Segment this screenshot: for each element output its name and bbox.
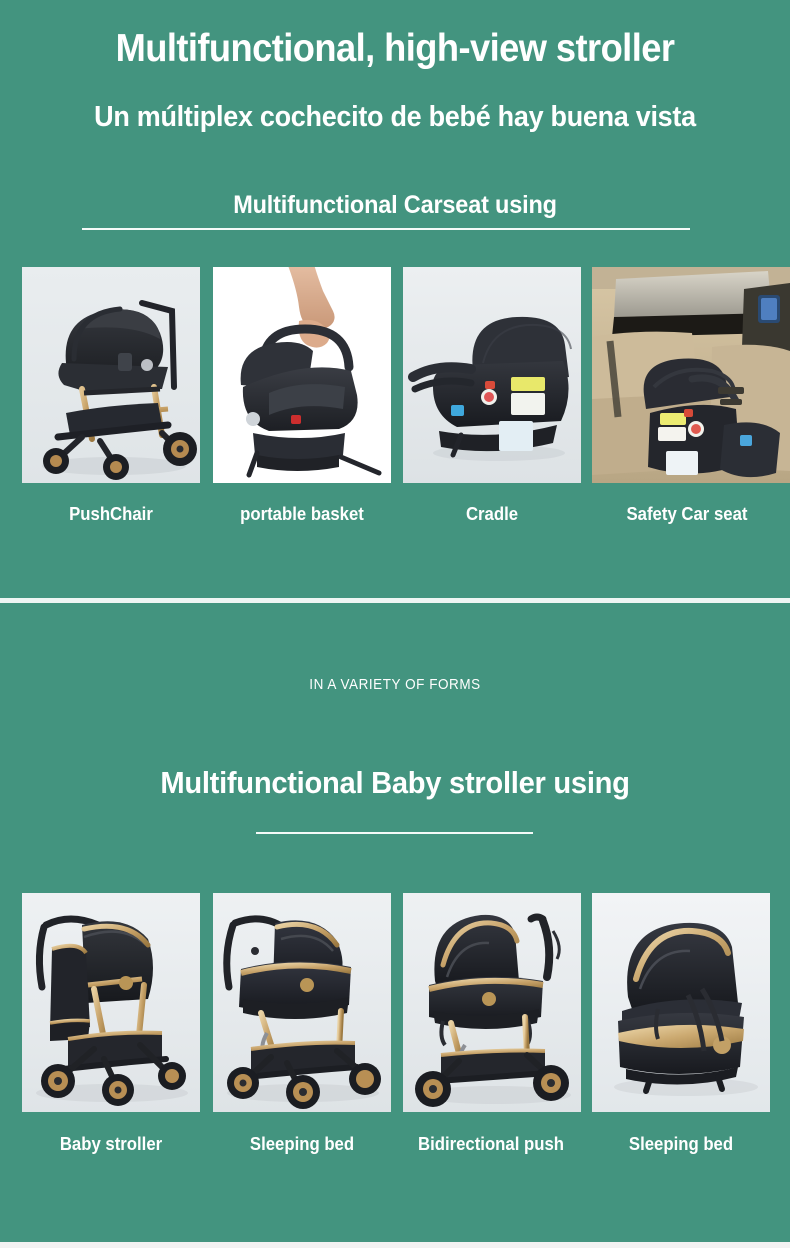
caption-baby-stroller: Baby stroller <box>28 1132 194 1156</box>
caption-pushchair: PushChair <box>28 502 194 526</box>
stroller-bassinet-reverse-illustration <box>403 893 581 1112</box>
cradle-illustration <box>403 267 581 483</box>
portable-basket-illustration <box>213 267 391 483</box>
page-subtitle: Un múltiplex cochecito de bebé hay buena… <box>28 99 763 135</box>
photo-panel-detached-bassinet <box>592 893 770 1112</box>
carseat-heading-underline <box>82 228 690 230</box>
caption-portable-basket: portable basket <box>219 502 385 526</box>
stroller-bassinet-side-illustration <box>213 893 391 1112</box>
variety-eyebrow: IN A VARIETY OF FORMS <box>40 676 751 693</box>
product-infographic-page: Multifunctional, high-view stroller Un m… <box>0 0 790 1248</box>
carseat-section-heading: Multifunctional Carseat using <box>24 189 767 221</box>
page-title: Multifunctional, high-view stroller <box>28 26 763 72</box>
photo-panel-portable-basket <box>213 267 391 483</box>
section-divider <box>0 598 790 603</box>
caption-bidirectional-push: Bidirectional push <box>405 1132 578 1156</box>
detached-bassinet-illustration <box>592 893 770 1112</box>
car-seat-in-car-illustration <box>592 267 790 483</box>
stroller-section-heading: Multifunctional Baby stroller using <box>24 763 767 803</box>
photo-panel-safety-car-seat <box>592 267 790 483</box>
photo-panel-bidirectional-push <box>403 893 581 1112</box>
photo-panel-cradle <box>403 267 581 483</box>
stroller-heading-underline <box>256 832 533 834</box>
caption-sleeping-bed-side: Sleeping bed <box>219 1132 385 1156</box>
photo-panel-baby-stroller <box>22 893 200 1112</box>
pushchair-illustration <box>22 267 200 483</box>
photo-panel-pushchair <box>22 267 200 483</box>
photo-panel-sleeping-bed-side <box>213 893 391 1112</box>
caption-safety-car-seat: Safety Car seat <box>599 502 776 526</box>
caption-cradle: Cradle <box>409 502 575 526</box>
caption-sleeping-bed-detached: Sleeping bed <box>598 1132 764 1156</box>
page-bottom-edge <box>0 1242 790 1248</box>
baby-stroller-illustration <box>22 893 200 1112</box>
